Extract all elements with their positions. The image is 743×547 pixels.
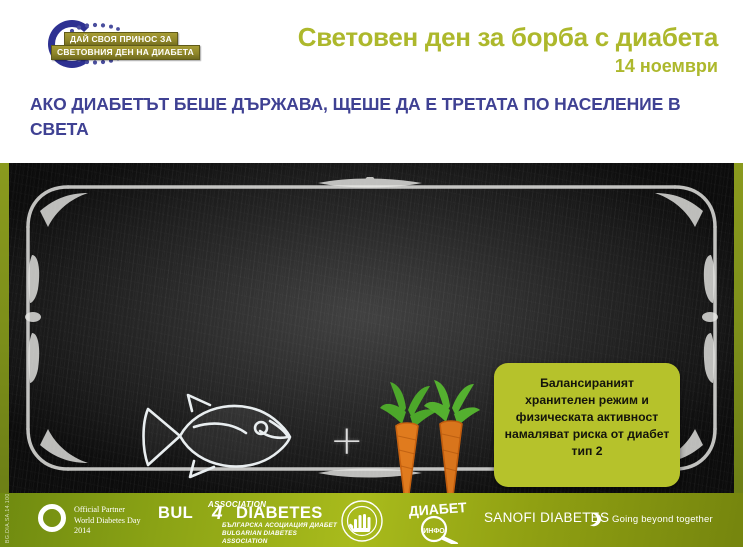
sanofi-tagline: Going beyond together [612,514,713,525]
svg-text:ДИАБЕТ: ДИАБЕТ [408,499,468,519]
poster-title: Световен ден за борба с диабета [298,22,718,52]
bda-diabetes-text: DIABETES [236,504,323,523]
world-diabetes-day-text: Official Partner World Diabetes Day 2014 [74,505,141,537]
food-carrots-icon [376,378,484,493]
campaign-logo: ДАЙ СВОЯ ПРИНОС ЗА СВЕТОВНИЯ ДЕН НА ДИАБ… [30,18,220,70]
board-edge-right [734,163,743,493]
national-association-logo-icon [340,499,384,543]
chalkboard: + + + + = Да бъдем по-здрави Балансирани… [0,163,743,493]
poster-root: ДАЙ СВОЯ ПРИНОС ЗА СВЕТОВНИЯ ДЕН НА ДИАБ… [0,0,743,547]
regulatory-code: BG.DIA.SA.14.1001 [5,497,11,543]
world-diabetes-day-circle-icon [38,504,66,532]
plus-operator: + [330,421,364,461]
svg-text:ИНФО: ИНФО [423,528,445,535]
sanofi-swirl-icon [586,509,604,529]
bda-subtitle-bg: БЪЛГАРСКА АСОЦИАЦИЯ ДИАБЕТ [222,522,338,530]
food-fish-icon [128,381,303,493]
poster-header: ДАЙ СВОЯ ПРИНОС ЗА СВЕТОВНИЯ ДЕН НА ДИАБ… [0,0,743,163]
board-edge-left [0,163,9,493]
bulgarian-diabetes-association-logo: BUL 4 ASSOCIATION DIABETES БЪЛГАРСКА АСО… [158,502,338,540]
poster-footer: BG.DIA.SA.14.1001 Official Partner World… [0,493,743,547]
bda-subtitle-en: BULGARIAN DIABETES ASSOCIATION [222,530,338,546]
bda-bul-text: BUL [158,504,193,523]
poster-headline: АКО ДИАБЕТЪТ БЕШЕ ДЪРЖАВА, ЩЕШЕ ДА Е ТРЕ… [30,92,720,142]
poster-date: 14 ноември [615,55,718,77]
wdd-line1: Official Partner [74,505,141,516]
wdd-line3: 2014 [74,526,141,537]
logo-band-line2: СВЕТОВНИЯ ДЕН НА ДИАБЕТА [51,45,200,60]
wdd-line2: World Diabetes Day [74,516,141,527]
diabet-magazine-logo-icon: ДИАБЕТ ИНФО [408,498,468,544]
callout-box: Балансираният хранителен режим и физичес… [494,363,680,487]
